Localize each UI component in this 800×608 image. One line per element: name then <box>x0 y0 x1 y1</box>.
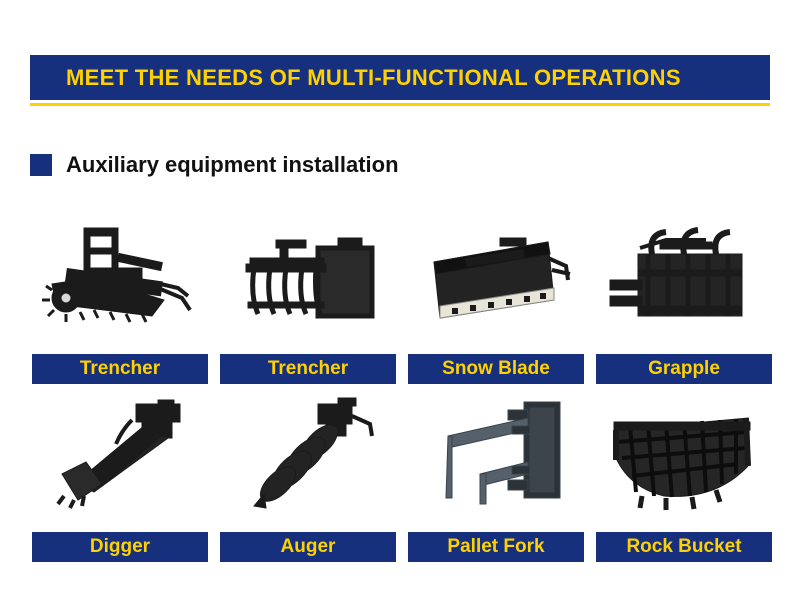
auger-attachment-photo <box>220 396 396 524</box>
attachment-caption: Trencher <box>220 354 396 384</box>
attachment-caption: Auger <box>220 532 396 562</box>
rock-bucket-attachment-photo <box>596 396 772 524</box>
attachment-card-rock-bucket[interactable]: Rock Bucket <box>590 396 778 564</box>
trencher-attachment-photo <box>32 218 208 346</box>
pallet-fork-attachment-photo <box>408 396 584 524</box>
attachment-card-pallet-fork[interactable]: Pallet Fork <box>402 396 590 564</box>
section-heading: Auxiliary equipment installation <box>30 152 399 178</box>
attachment-card-trencher-2[interactable]: Trencher <box>214 218 402 386</box>
grapple-attachment-photo <box>596 218 772 346</box>
header-underline-rule <box>30 103 770 106</box>
snow-blade-attachment-photo <box>408 218 584 346</box>
page-title: MEET THE NEEDS OF MULTI-FUNCTIONAL OPERA… <box>30 65 681 91</box>
rake-trencher-attachment-photo <box>220 218 396 346</box>
attachment-card-snow-blade[interactable]: Snow Blade <box>402 218 590 386</box>
attachment-caption: Snow Blade <box>408 354 584 384</box>
attachment-card-trencher-1[interactable]: Trencher <box>26 218 214 386</box>
attachment-caption: Grapple <box>596 354 772 384</box>
attachment-grid: Trencher <box>26 218 776 564</box>
attachment-caption: Digger <box>32 532 208 562</box>
attachment-caption: Trencher <box>32 354 208 384</box>
attachment-caption: Pallet Fork <box>408 532 584 562</box>
section-title: Auxiliary equipment installation <box>66 152 399 178</box>
header-banner: MEET THE NEEDS OF MULTI-FUNCTIONAL OPERA… <box>30 55 770 107</box>
digger-attachment-photo <box>32 396 208 524</box>
attachment-card-digger[interactable]: Digger <box>26 396 214 564</box>
attachment-card-grapple[interactable]: Grapple <box>590 218 778 386</box>
header-bar: MEET THE NEEDS OF MULTI-FUNCTIONAL OPERA… <box>30 55 770 100</box>
slide-page: MEET THE NEEDS OF MULTI-FUNCTIONAL OPERA… <box>0 0 800 608</box>
attachment-card-auger[interactable]: Auger <box>214 396 402 564</box>
attachment-caption: Rock Bucket <box>596 532 772 562</box>
square-bullet-icon <box>30 154 52 176</box>
